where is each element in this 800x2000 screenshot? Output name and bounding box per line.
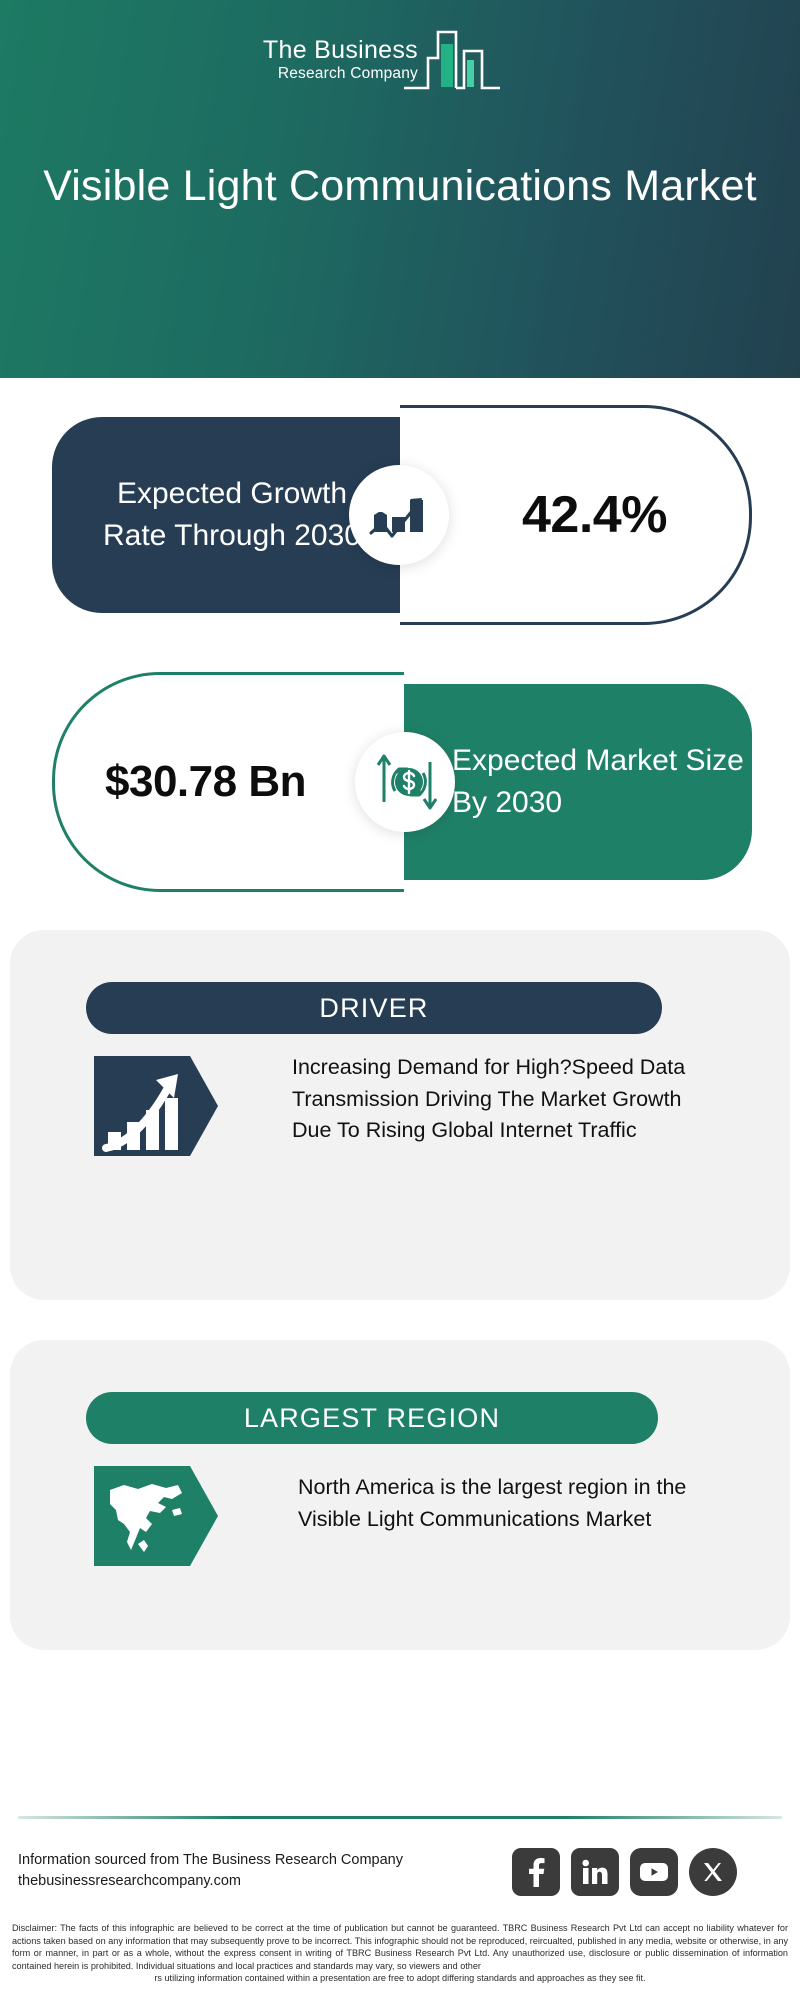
stat-card-growth-rate: Expected Growth Rate Through 2030 42.4% — [52, 405, 752, 625]
largest-region-heading-label: LARGEST REGION — [244, 1403, 500, 1434]
header-banner: The Business Research Company Visible Li… — [0, 0, 800, 378]
x-twitter-icon[interactable] — [689, 1848, 737, 1896]
footer-source-line-2[interactable]: thebusinessresearchcompany.com — [18, 1871, 498, 1892]
stat-card-market-size-value: $30.78 Bn — [105, 754, 306, 810]
stat-card-market-size-label: Expected Market Size By 2030 — [404, 740, 752, 824]
stat-card-market-size-label-panel: Expected Market Size By 2030 — [404, 684, 752, 880]
stat-card-growth-rate-label: Expected Growth Rate Through 2030 — [52, 473, 400, 557]
north-america-map-icon — [94, 1466, 218, 1590]
largest-region-heading-pill: LARGEST REGION — [86, 1392, 658, 1444]
growth-arrow-bars-icon — [94, 1056, 218, 1180]
page-title: Visible Light Communications Market — [0, 160, 800, 213]
footer-disclaimer: Disclaimer: The facts of this infographi… — [12, 1922, 788, 1985]
footer-disclaimer-body: Disclaimer: The facts of this infographi… — [12, 1923, 788, 1971]
footer-divider — [18, 1816, 782, 1819]
logo-wordmark: The Business Research Company — [222, 36, 418, 84]
stat-card-growth-rate-value: 42.4% — [522, 485, 667, 545]
logo-line-2: Research Company — [222, 64, 418, 84]
social-links — [512, 1848, 782, 1898]
dollar-exchange-icon — [355, 732, 455, 832]
logo-line-1: The Business — [222, 36, 418, 64]
driver-heading-label: DRIVER — [319, 993, 428, 1024]
footer-source-line-1: Information sourced from The Business Re… — [18, 1850, 498, 1871]
company-logo: The Business Research Company — [222, 22, 502, 100]
driver-heading-pill: DRIVER — [86, 982, 662, 1034]
tbrc-bar-chart-logo — [402, 26, 502, 101]
facebook-icon[interactable] — [512, 1848, 560, 1896]
linkedin-icon[interactable] — [571, 1848, 619, 1896]
stat-card-growth-rate-value-panel: 42.4% — [400, 405, 752, 625]
youtube-icon[interactable] — [630, 1848, 678, 1896]
growth-chart-arrow-icon — [349, 465, 449, 565]
largest-region-description: North America is the largest region in t… — [298, 1472, 706, 1535]
stat-card-market-size: $30.78 Bn Expected Market Size By 2030 — [52, 672, 752, 892]
driver-description: Increasing Demand for High?Speed Data Tr… — [292, 1052, 722, 1147]
footer-disclaimer-last-line: rs utilizing information contained withi… — [12, 1972, 788, 1985]
footer-source: Information sourced from The Business Re… — [18, 1850, 498, 1892]
stat-card-growth-rate-label-panel: Expected Growth Rate Through 2030 — [52, 417, 400, 613]
stat-card-market-size-value-panel: $30.78 Bn — [52, 672, 404, 892]
